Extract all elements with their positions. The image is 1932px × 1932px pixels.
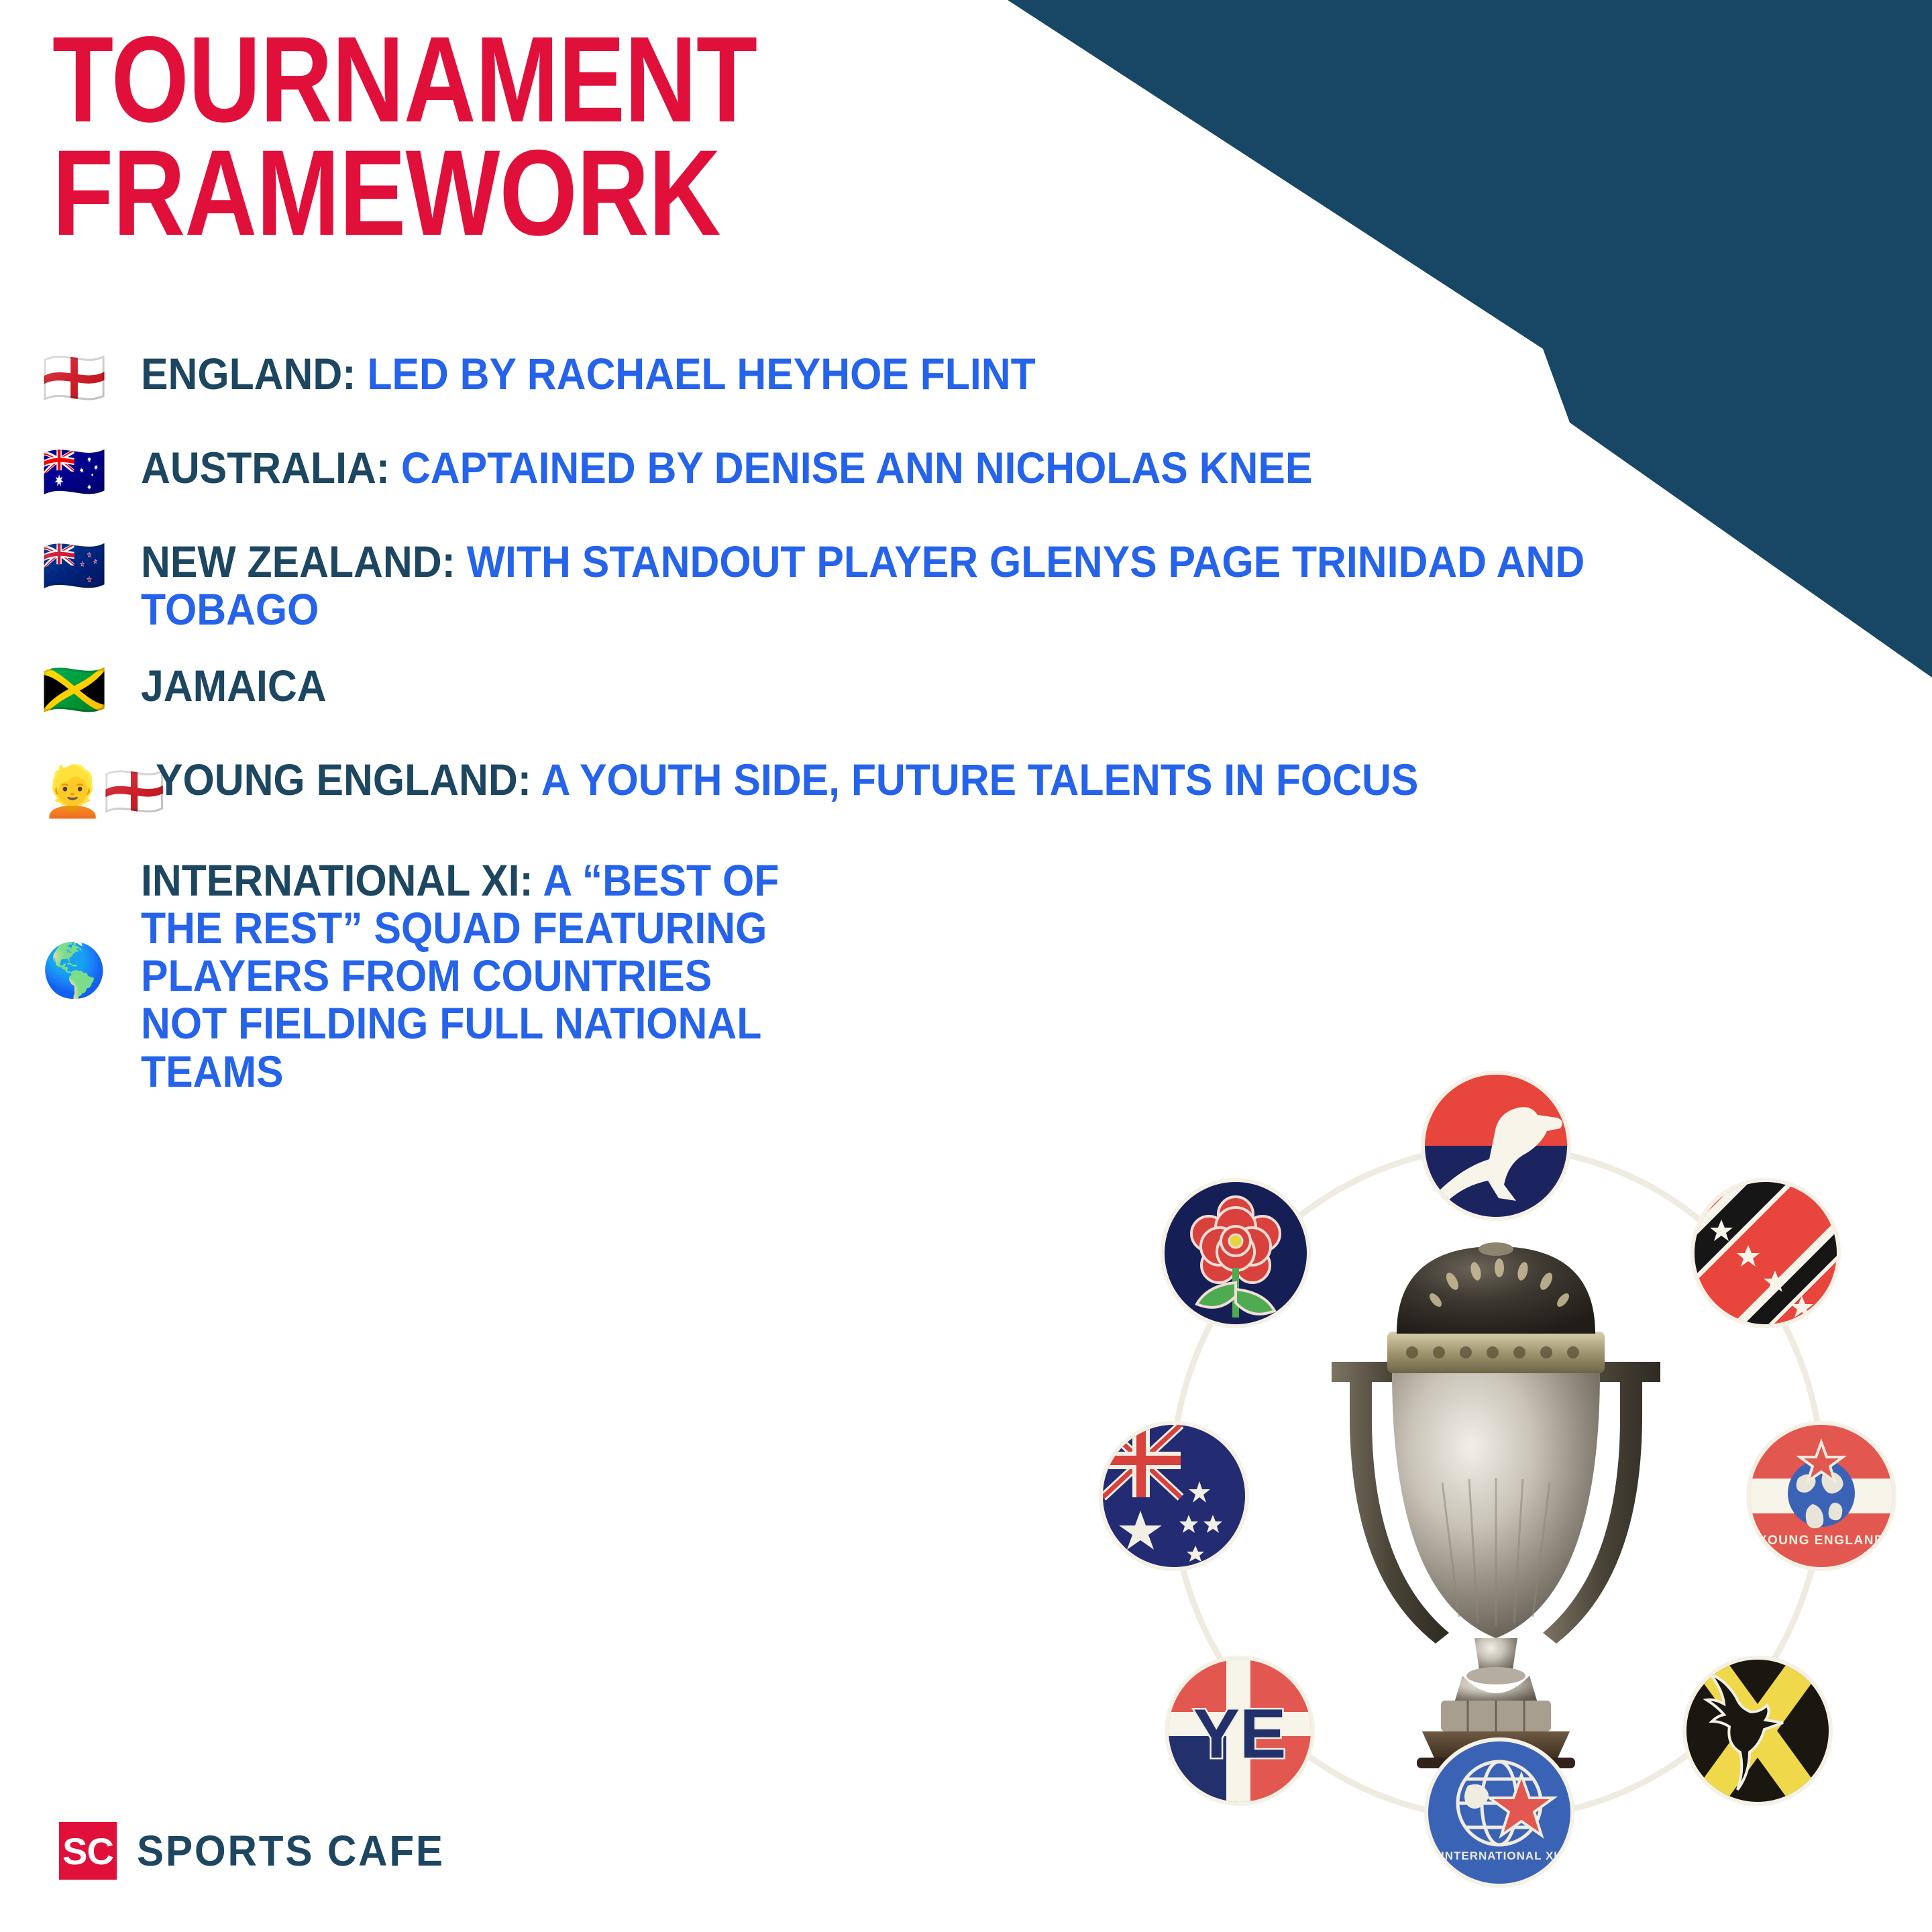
team-description: A YOUTH SIDE, FUTURE TALENTS IN FOCUS: [541, 755, 1419, 804]
badge-ye-crest: YE: [1165, 1656, 1315, 1806]
team-name: YOUNG ENGLAND:: [156, 755, 531, 804]
team-name: INTERNATIONAL XI:: [141, 855, 533, 905]
logo-mark-sc: SC: [59, 1822, 117, 1880]
jamaica-flag-icon: 🇯🇲: [42, 661, 141, 716]
badge-jamaica-crest: [1682, 1656, 1833, 1806]
team-description: CAPTAINED BY DENISE ANN NICHOLAS KNEE: [401, 443, 1312, 492]
badge-label-ye: YE: [1193, 1695, 1287, 1773]
list-item: 🇯🇲 JAMAICA: [42, 661, 1893, 716]
team-line: YOUNG ENGLAND: A YOUTH SIDE, FUTURE TALE…: [156, 756, 1754, 804]
list-item: 🌎 INTERNATIONAL XI: A “BEST OF THE REST”…: [42, 855, 1893, 1095]
badge-england-rose-crest: [1161, 1178, 1311, 1328]
team-name: NEW ZEALAND:: [141, 537, 455, 586]
team-name: ENGLAND:: [141, 349, 356, 398]
team-line: AUSTRALIA: CAPTAINED BY DENISE ANN NICHO…: [141, 444, 1753, 492]
sports-cafe-logo: SC SPORTS CAFE: [59, 1822, 464, 1880]
badge-label-international-xi: INTERNATIONAL XI: [1441, 1849, 1558, 1862]
team-line: ENGLAND: LED BY RACHAEL HEYHOE FLINT: [141, 350, 1753, 398]
team-list: 🏴󠁧󠁢󠁥󠁮󠁧󠁿 ENGLAND: LED BY RACHAEL HEYHOE F…: [42, 349, 1893, 1134]
team-line: JAMAICA: [141, 662, 1753, 710]
team-line: NEW ZEALAND: WITH STANDOUT PLAYER GLENYS…: [141, 538, 1753, 634]
team-line: INTERNATIONAL XI: A “BEST OF THE REST” S…: [141, 857, 808, 1095]
team-name: JAMAICA: [141, 661, 327, 710]
team-name: AUSTRALIA:: [141, 443, 390, 492]
england-flag-icon: 🏴󠁧󠁢󠁥󠁮󠁧󠁿: [42, 349, 141, 404]
badge-australia-flag-crest: [1099, 1421, 1249, 1571]
badge-international-xi-crest: INTERNATIONAL XI: [1424, 1737, 1574, 1888]
badge-label-young-england: YOUNG ENGLAND: [1758, 1534, 1884, 1548]
list-item: 🇳🇿 NEW ZEALAND: WITH STANDOUT PLAYER GLE…: [42, 537, 1893, 634]
page-title-line-1: TOURNAMENT: [52, 23, 757, 136]
badge-trinidad-tobago-crest: [1690, 1178, 1841, 1328]
trophy-icon: [1332, 1242, 1660, 1768]
page-title-line-2: FRAMEWORK: [52, 136, 757, 250]
globe-icon: 🌎: [42, 855, 141, 996]
new-zealand-flag-icon: 🇳🇿: [42, 537, 141, 592]
list-item: 🏴󠁧󠁢󠁥󠁮󠁧󠁿 ENGLAND: LED BY RACHAEL HEYHOE F…: [42, 349, 1893, 404]
page-title: TOURNAMENT FRAMEWORK: [52, 23, 912, 250]
logo-wordmark: SPORTS CAFE: [137, 1826, 445, 1876]
badge-ring-graphic: YOUNG ENGLAND INTERN: [1087, 1067, 1905, 1892]
badge-young-england-crest: YOUNG ENGLAND: [1746, 1421, 1896, 1571]
list-item: 🇦🇺 AUSTRALIA: CAPTAINED BY DENISE ANN NI…: [42, 443, 1893, 498]
australia-flag-icon: 🇦🇺: [42, 443, 141, 498]
list-item: 👱🏴󠁧󠁢󠁥󠁮󠁧󠁿 YOUNG ENGLAND: A YOUTH SIDE, FU…: [42, 755, 1893, 816]
youth-person-and-england-flag-icon: 👱🏴󠁧󠁢󠁥󠁮󠁧󠁿: [42, 755, 156, 816]
team-description: LED BY RACHAEL HEYHOE FLINT: [367, 349, 1035, 398]
